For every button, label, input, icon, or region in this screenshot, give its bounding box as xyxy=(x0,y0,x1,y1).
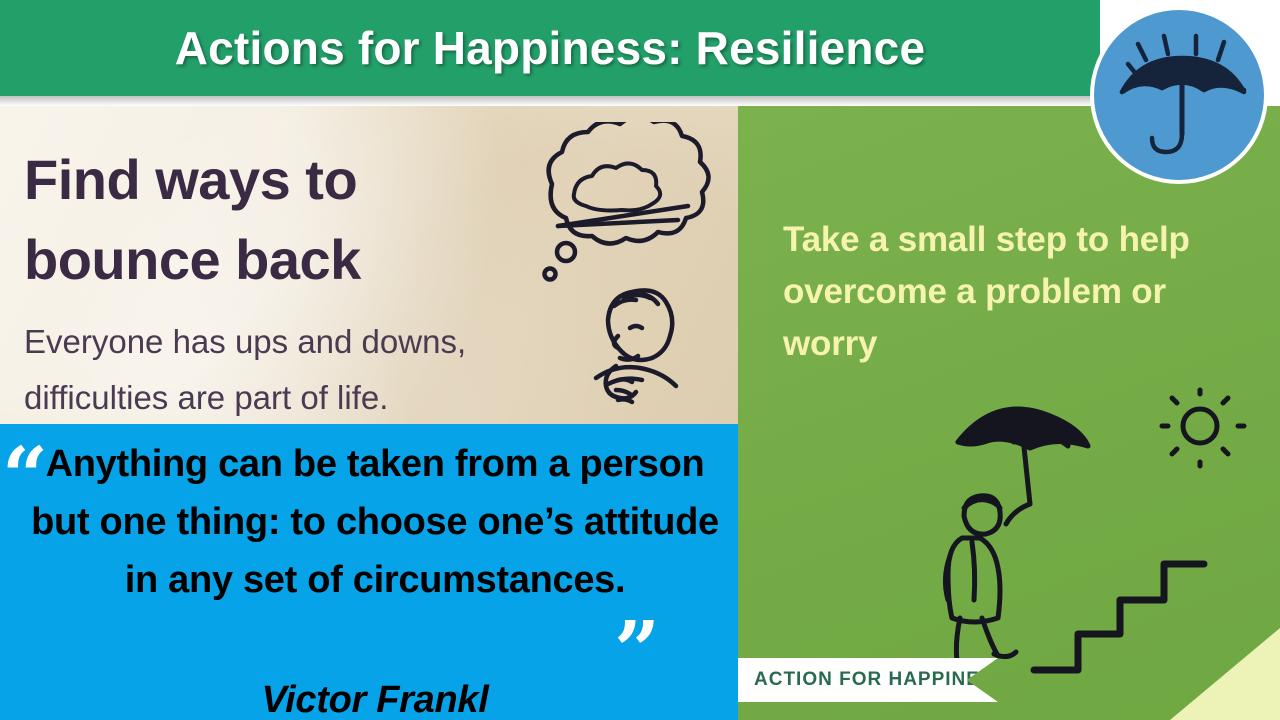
quote-author: Victor Frankl xyxy=(30,679,720,720)
quote-panel: “ Anything can be taken from a person bu… xyxy=(0,424,738,720)
left-content-panel: Find ways to bounce back Everyone has up… xyxy=(0,106,738,424)
left-panel-subtext: Everyone has ups and downs, difficulties… xyxy=(24,314,584,424)
left-panel-heading: Find ways to bounce back xyxy=(24,140,544,299)
thinking-person-cloud-illustration xyxy=(512,122,732,417)
action-for-happiness-ribbon: ACTION FOR HAPPINESS xyxy=(738,658,998,702)
header-bar: Actions for Happiness: Resilience xyxy=(0,0,1100,96)
umbrella-badge xyxy=(1090,6,1268,184)
page-title: Actions for Happiness: Resilience xyxy=(0,0,1100,96)
person-with-umbrella-climbing-stairs-illustration xyxy=(938,386,1268,691)
right-content-panel: Take a small step to help overcome a pro… xyxy=(738,106,1280,720)
quote-text: Anything can be taken from a person but … xyxy=(30,436,720,609)
right-panel-heading: Take a small step to help overcome a pro… xyxy=(783,214,1253,369)
close-quote-icon: ” xyxy=(614,610,660,690)
header-shadow xyxy=(0,96,1100,106)
slide: Actions for Happiness: Resilience Find w… xyxy=(0,0,1280,720)
